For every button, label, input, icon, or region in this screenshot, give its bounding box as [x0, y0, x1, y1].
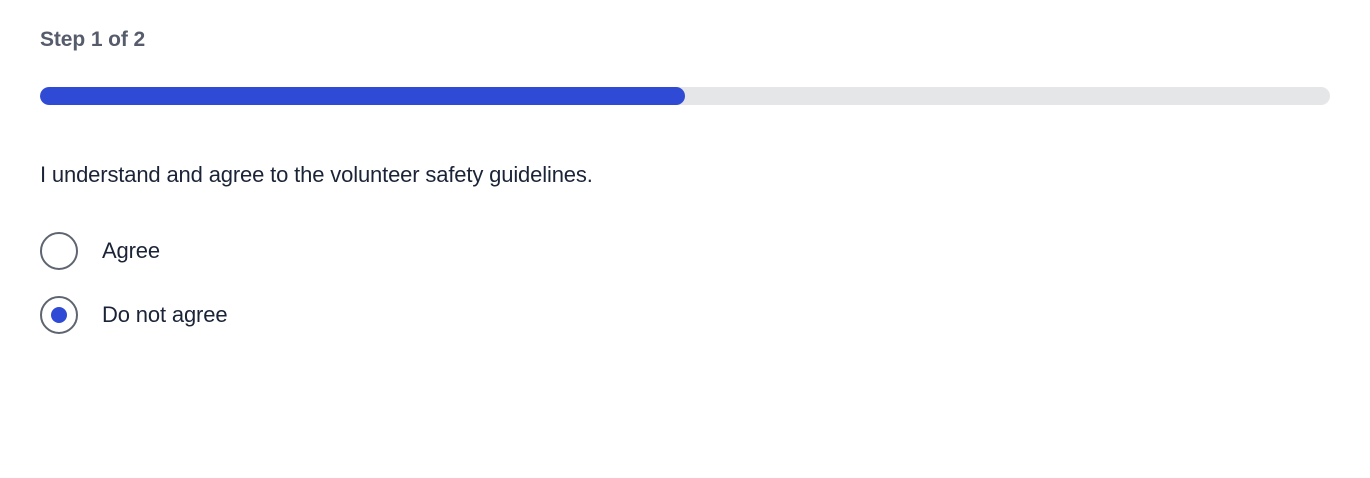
radio-circle-icon[interactable] — [40, 232, 78, 270]
radio-circle-icon[interactable] — [40, 296, 78, 334]
radio-dot-icon — [51, 307, 67, 323]
radio-option-label: Do not agree — [102, 300, 227, 330]
radio-option-do-not-agree[interactable]: Do not agree — [40, 283, 640, 347]
radio-group: Agree Do not agree — [40, 219, 640, 347]
question-text: I understand and agree to the volunteer … — [40, 160, 593, 190]
radio-option-label: Agree — [102, 236, 160, 266]
progress-bar-fill — [40, 87, 685, 105]
volunteer-safety-step-page: Step 1 of 2 I understand and agree to th… — [0, 0, 1370, 478]
step-indicator-label: Step 1 of 2 — [40, 26, 145, 54]
radio-option-agree[interactable]: Agree — [40, 219, 640, 283]
progress-bar-track — [40, 87, 1330, 105]
